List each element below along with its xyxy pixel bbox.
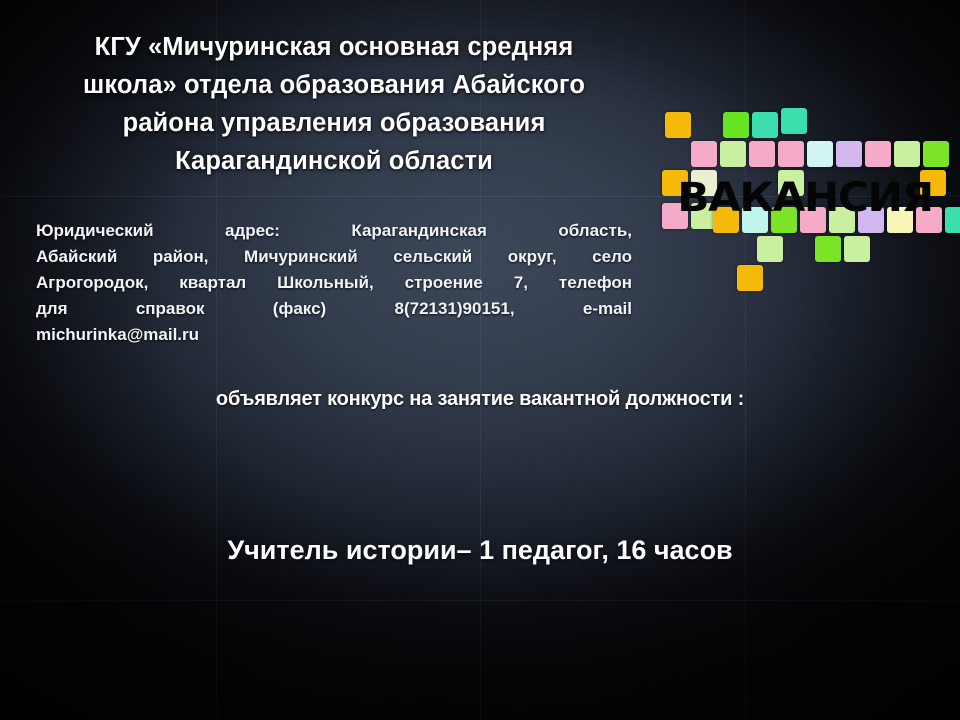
logo-tile: [737, 265, 763, 291]
logo-tile: [781, 108, 807, 134]
legal-address-block: Юридический адрес: Карагандинская област…: [36, 218, 632, 348]
org-title-line-4: Карагандинской области: [24, 142, 644, 180]
announcement-text: объявляет конкурс на занятие вакантной д…: [0, 388, 960, 411]
logo-tile: [807, 141, 833, 167]
logo-tile: [778, 141, 804, 167]
logo-tile: [844, 236, 870, 262]
page-title: КГУ «Мичуринская основная средняя школа»…: [24, 28, 644, 180]
logo-tile: [923, 141, 949, 167]
logo-word-vakansiya: ВАКАНСИЯ: [646, 176, 960, 220]
logo-tile: [749, 141, 775, 167]
logo-tile: [752, 112, 778, 138]
gridline-horizontal: [0, 600, 960, 601]
legal-address-email: michurinka@mail.ru: [36, 322, 632, 348]
vacancy-logo: ВАКАНСИЯ: [655, 108, 955, 293]
legal-address-line-3: Агрогородок, квартал Школьный, строение …: [36, 270, 632, 296]
logo-tile: [723, 112, 749, 138]
vacancy-announcement-slide: КГУ «Мичуринская основная средняя школа»…: [0, 0, 960, 720]
logo-tile: [720, 141, 746, 167]
logo-tile: [836, 141, 862, 167]
logo-tile: [665, 112, 691, 138]
logo-tile: [815, 236, 841, 262]
logo-tile: [894, 141, 920, 167]
logo-tile: [691, 141, 717, 167]
vacancy-position-text: Учитель истории– 1 педагог, 16 часов: [0, 535, 960, 566]
logo-tile: [757, 236, 783, 262]
org-title-line-1: КГУ «Мичуринская основная средняя: [24, 28, 644, 66]
legal-address-line-4: для справок (факс) 8(72131)90151, e-mail: [36, 296, 632, 322]
org-title-line-2: школа» отдела образования Абайского: [24, 66, 644, 104]
legal-address-line-1: Юридический адрес: Карагандинская област…: [36, 218, 632, 244]
org-title-line-3: района управления образования: [24, 104, 644, 142]
legal-address-line-2: Абайский район, Мичуринский сельский окр…: [36, 244, 632, 270]
logo-tile: [865, 141, 891, 167]
